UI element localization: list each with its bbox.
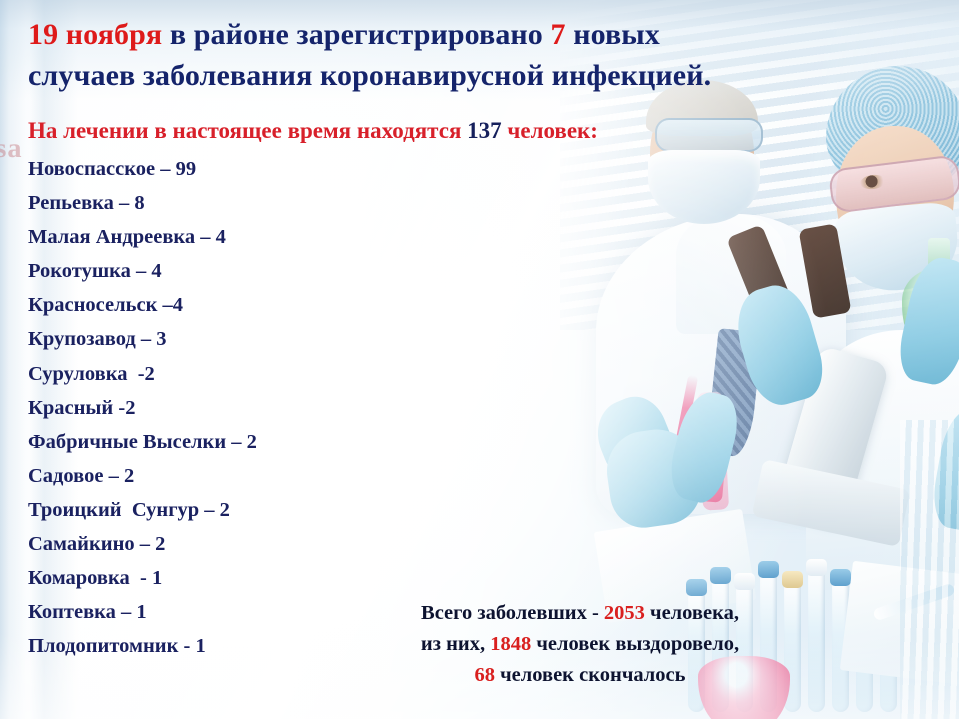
summary-line-total: Всего заболевших - 2053 человека, — [360, 598, 800, 629]
subtitle-prefix: На лечении в настоящее время находятся — [28, 118, 467, 143]
title-new-cases-count: 7 — [551, 18, 566, 51]
summary-deaths-number: 68 — [474, 664, 495, 686]
title-text-1: в районе зарегистрировано — [162, 18, 550, 51]
page-title: 19 ноября в районе зарегистрировано 7 но… — [28, 14, 728, 96]
summary-block: Всего заболевших - 2053 человека, из них… — [360, 598, 800, 691]
list-item: Репьевка – 8 — [28, 186, 448, 220]
summary-line-deaths: 68 человек скончалось — [360, 660, 800, 691]
ghost-text-artifact: sa — [0, 133, 23, 164]
list-item: Комаровка - 1 — [28, 561, 448, 595]
summary-total-prefix: Всего заболевших - — [421, 602, 604, 624]
summary-recovered-suffix: человек выздоровело, — [531, 633, 739, 655]
subtitle-currently-treated: На лечении в настоящее время находятся 1… — [28, 116, 708, 146]
summary-recovered-prefix: из них, — [421, 633, 490, 655]
summary-deaths-suffix: человек скончалось — [495, 664, 686, 686]
title-date: 19 ноября — [28, 18, 162, 51]
summary-total-number: 2053 — [604, 602, 645, 624]
summary-recovered-number: 1848 — [490, 633, 531, 655]
list-item: Рокотушка – 4 — [28, 254, 448, 288]
list-item: Самайкино – 2 — [28, 527, 448, 561]
list-item: Фабричные Выселки – 2 — [28, 425, 448, 459]
list-item: Крупозавод – 3 — [28, 322, 448, 356]
title-text-2: новых — [566, 18, 660, 51]
summary-total-suffix: человека, — [645, 602, 739, 624]
list-item: Троицкий Сунгур – 2 — [28, 493, 448, 527]
list-item: Новоспасское – 99 — [28, 152, 448, 186]
summary-line-recovered: из них, 1848 человек выздоровело, — [360, 629, 800, 660]
list-item: Красносельск –4 — [28, 288, 448, 322]
title-line-2: случаев заболевания коронавирусной инфек… — [28, 59, 711, 92]
poster-root: sa 19 ноября в районе зарегистрировано 7… — [0, 0, 959, 719]
list-item: Красный -2 — [28, 391, 448, 425]
list-item: Суруловка -2 — [28, 357, 448, 391]
list-item: Садовое – 2 — [28, 459, 448, 493]
settlement-case-list: Новоспасское – 99Репьевка – 8Малая Андре… — [28, 152, 448, 663]
subtitle-count: 137 — [467, 118, 502, 143]
list-item: Малая Андреевка – 4 — [28, 220, 448, 254]
subtitle-suffix: человек: — [502, 118, 598, 143]
